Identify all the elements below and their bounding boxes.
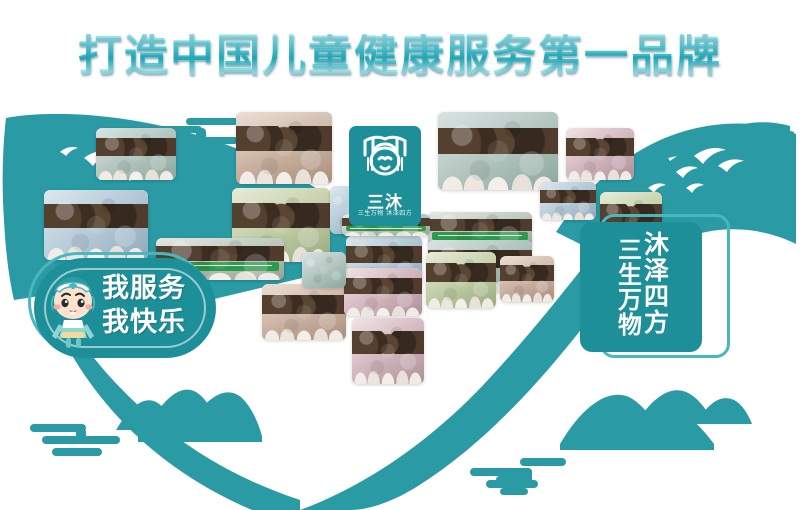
photo-texture bbox=[236, 112, 332, 184]
panel-vertical-text: 沐泽四方 三生万物 bbox=[580, 222, 702, 352]
photo-ward-round bbox=[438, 112, 558, 190]
photo-texture bbox=[566, 128, 634, 180]
badge-slogan-line1: 我服务 bbox=[102, 272, 186, 306]
photo-baby-care bbox=[566, 128, 634, 180]
photo-clinic-desk bbox=[96, 128, 176, 180]
photo-texture bbox=[44, 190, 148, 260]
badge-slogan: 我服务 我快乐 bbox=[102, 272, 186, 340]
panel-column-1: 沐泽四方 bbox=[641, 231, 667, 335]
photo-bottom-small bbox=[302, 252, 346, 288]
photo-screening-green bbox=[426, 252, 496, 308]
photo-texture bbox=[426, 252, 496, 308]
photo-consult-room bbox=[236, 112, 332, 184]
photo-texture bbox=[302, 252, 346, 288]
page-title: 打造中国儿童健康服务第一品牌 bbox=[0, 34, 800, 78]
center-logo-tile: 三沐 三生万物 沐泽四方 bbox=[349, 126, 421, 226]
sanmu-face-logo-icon bbox=[359, 135, 411, 185]
photo-treatment-left bbox=[44, 190, 148, 260]
photo-workshop bbox=[262, 284, 346, 340]
photo-child-exam bbox=[500, 256, 554, 302]
photo-texture bbox=[96, 128, 176, 180]
photo-nurse-row bbox=[344, 268, 422, 316]
photo-texture bbox=[262, 284, 346, 340]
logo-subtitle: 三生万物 沐泽四方 bbox=[349, 208, 421, 217]
photo-texture bbox=[500, 256, 554, 302]
photo-home-visit bbox=[352, 318, 424, 384]
badge-fill: 我服务 我快乐 bbox=[34, 258, 216, 358]
left-slogan-badge: 我服务 我快乐 bbox=[28, 252, 210, 352]
right-calligraphy-panel: 沐泽四方 三生万物 bbox=[580, 208, 730, 358]
photo-texture bbox=[352, 318, 424, 384]
badge-slogan-line2: 我快乐 bbox=[102, 306, 186, 340]
poster-canvas: 三沐 三生万物 沐泽四方 打造中国儿童健康服务第一品牌 bbox=[0, 0, 800, 510]
photo-texture bbox=[344, 268, 422, 316]
nurse-mascot-icon bbox=[44, 274, 102, 350]
panel-column-2: 三生万物 bbox=[615, 231, 640, 337]
photo-texture bbox=[438, 112, 558, 190]
